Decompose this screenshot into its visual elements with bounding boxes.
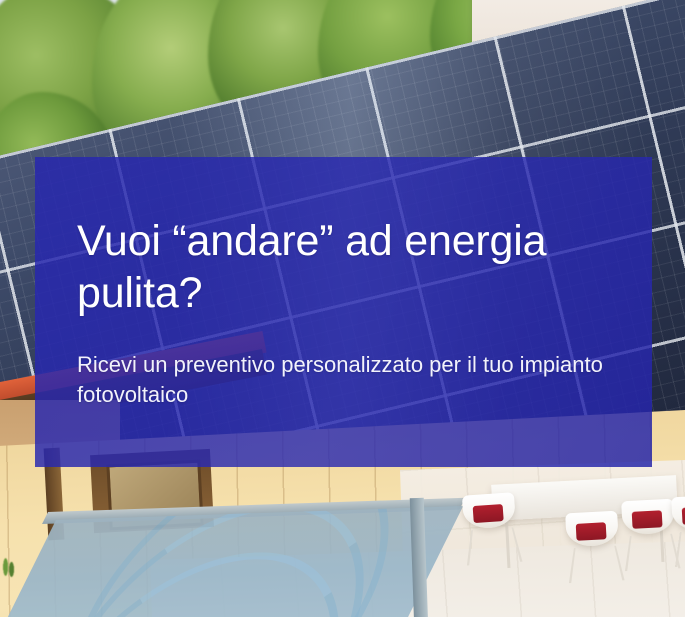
chair-cushion [576,522,607,541]
small-plant [0,552,16,582]
page-subtitle: Ricevi un preventivo personalizzato per … [77,350,606,410]
chair-cushion [632,510,663,529]
page-title: Vuoi “andare” ad energia pulita? [77,215,606,319]
chair-cushion [473,504,504,523]
chair-legs [569,546,625,583]
swimming-pool [0,506,463,617]
chair-legs [467,527,523,565]
text-overlay-panel: Vuoi “andare” ad energia pulita? Ricevi … [35,157,652,467]
hero-banner: Vuoi “andare” ad energia pulita? Ricevi … [0,0,685,617]
